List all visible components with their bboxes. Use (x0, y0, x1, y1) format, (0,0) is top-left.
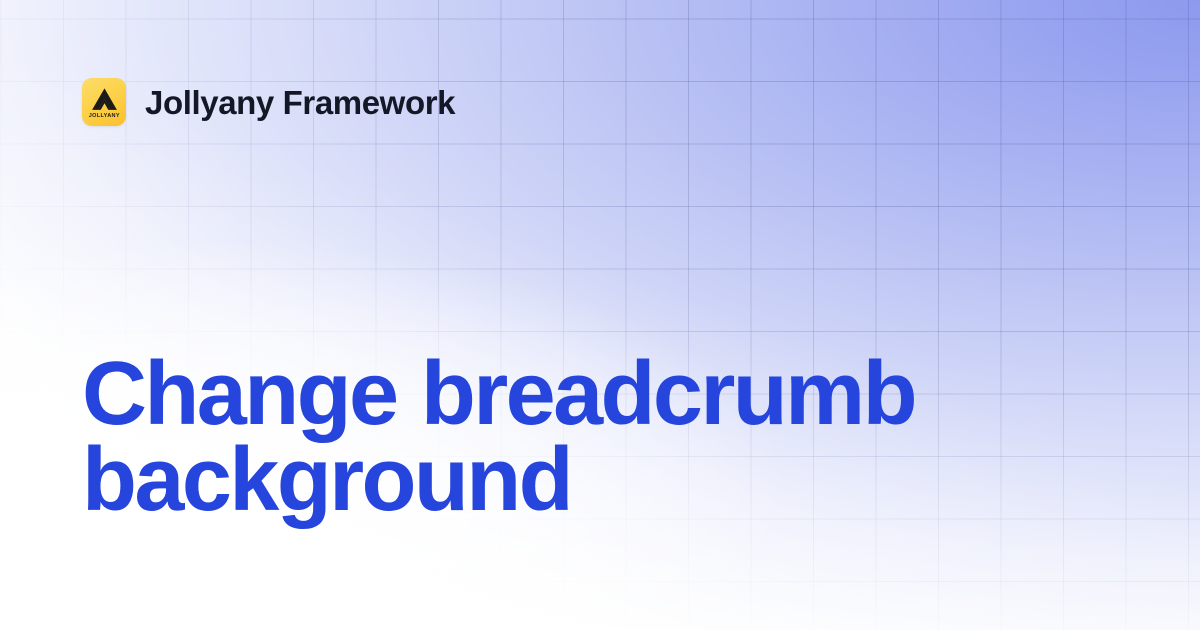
brand-name-text: Jollyany Framework (145, 86, 455, 119)
og-share-card: JOLLYANY Jollyany Framework Change bread… (0, 0, 1200, 630)
jollyany-triangle-logo-icon (91, 87, 118, 112)
brand-row: JOLLYANY Jollyany Framework (82, 78, 455, 126)
page-title: Change breadcrumb background (82, 352, 1082, 523)
brand-logo-wordmark: JOLLYANY (88, 114, 119, 119)
brand-logo-badge: JOLLYANY (82, 78, 126, 126)
